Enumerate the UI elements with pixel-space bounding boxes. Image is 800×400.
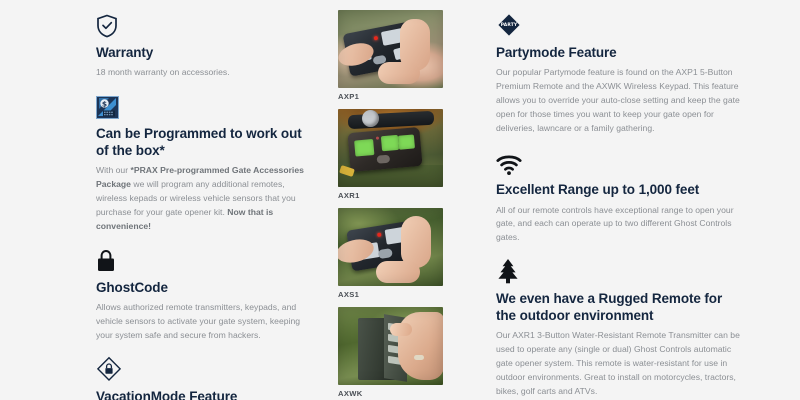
product-image-axs1 xyxy=(338,208,443,286)
party-icon-label: PARTY xyxy=(501,22,518,28)
feature-ghostcode: GhostCode Allows authorized remote trans… xyxy=(96,247,316,343)
feature-title: VacationMode Feature xyxy=(96,389,316,400)
feature-title: Partymode Feature xyxy=(496,45,740,61)
product-caption: AXR1 xyxy=(338,191,490,200)
feature-grid-page: Warranty 18 month warranty on accessorie… xyxy=(0,0,800,400)
product-image-axr1 xyxy=(338,109,443,187)
right-feature-column: PARTY Partymode Feature Our popular Part… xyxy=(490,0,800,400)
feature-range: Excellent Range up to 1,000 feet All of … xyxy=(496,149,740,245)
product-photo-column: AXP1 AXR1 xyxy=(330,0,490,400)
party-diamond-icon: PARTY xyxy=(496,12,740,38)
product-shot-axs1: AXS1 xyxy=(338,208,490,299)
wifi-signal-icon xyxy=(496,149,740,175)
product-caption: AXS1 xyxy=(338,290,490,299)
feature-title: Can be Programmed to work out of the box… xyxy=(96,126,316,159)
feature-body: 18 month warranty on accessories. xyxy=(96,66,316,80)
svg-text:$: $ xyxy=(102,100,107,109)
product-image-axp1 xyxy=(338,10,443,88)
feature-body: Our popular Partymode feature is found o… xyxy=(496,66,740,136)
product-caption: AXP1 xyxy=(338,92,490,101)
shield-check-icon xyxy=(96,12,316,38)
diamond-lock-icon xyxy=(96,356,316,382)
money-package-icon: $ xyxy=(96,93,316,119)
feature-rugged-remote: We even have a Rugged Remote for the out… xyxy=(496,258,740,399)
feature-warranty: Warranty 18 month warranty on accessorie… xyxy=(96,12,316,80)
product-shot-axr1: AXR1 xyxy=(338,109,490,200)
feature-title: GhostCode xyxy=(96,280,316,296)
feature-body: Our AXR1 3-Button Water-Resistant Remote… xyxy=(496,329,740,399)
feature-body: With our *PRAX Pre-programmed Gate Acces… xyxy=(96,164,316,234)
product-shot-axp1: AXP1 xyxy=(338,10,490,101)
product-caption: AXWK xyxy=(338,389,490,398)
feature-title: Warranty xyxy=(96,45,316,61)
feature-title: We even have a Rugged Remote for the out… xyxy=(496,291,740,324)
feature-partymode: PARTY Partymode Feature Our popular Part… xyxy=(496,12,740,136)
feature-preprogrammed: $ Can be Programmed to work out of the b… xyxy=(96,93,316,234)
feature-body: All of our remote controls have exceptio… xyxy=(496,204,740,246)
product-shot-axwk: AXWK xyxy=(338,307,490,398)
left-feature-column: Warranty 18 month warranty on accessorie… xyxy=(0,0,330,400)
body-lead: With our xyxy=(96,165,130,175)
feature-title: Excellent Range up to 1,000 feet xyxy=(496,182,740,198)
feature-vacationmode: VacationMode Feature Great for hunting l… xyxy=(96,356,316,400)
lock-padlock-icon xyxy=(96,247,316,273)
pine-tree-icon xyxy=(496,258,740,284)
feature-body: Allows authorized remote transmitters, k… xyxy=(96,301,316,343)
product-image-axwk xyxy=(338,307,443,385)
